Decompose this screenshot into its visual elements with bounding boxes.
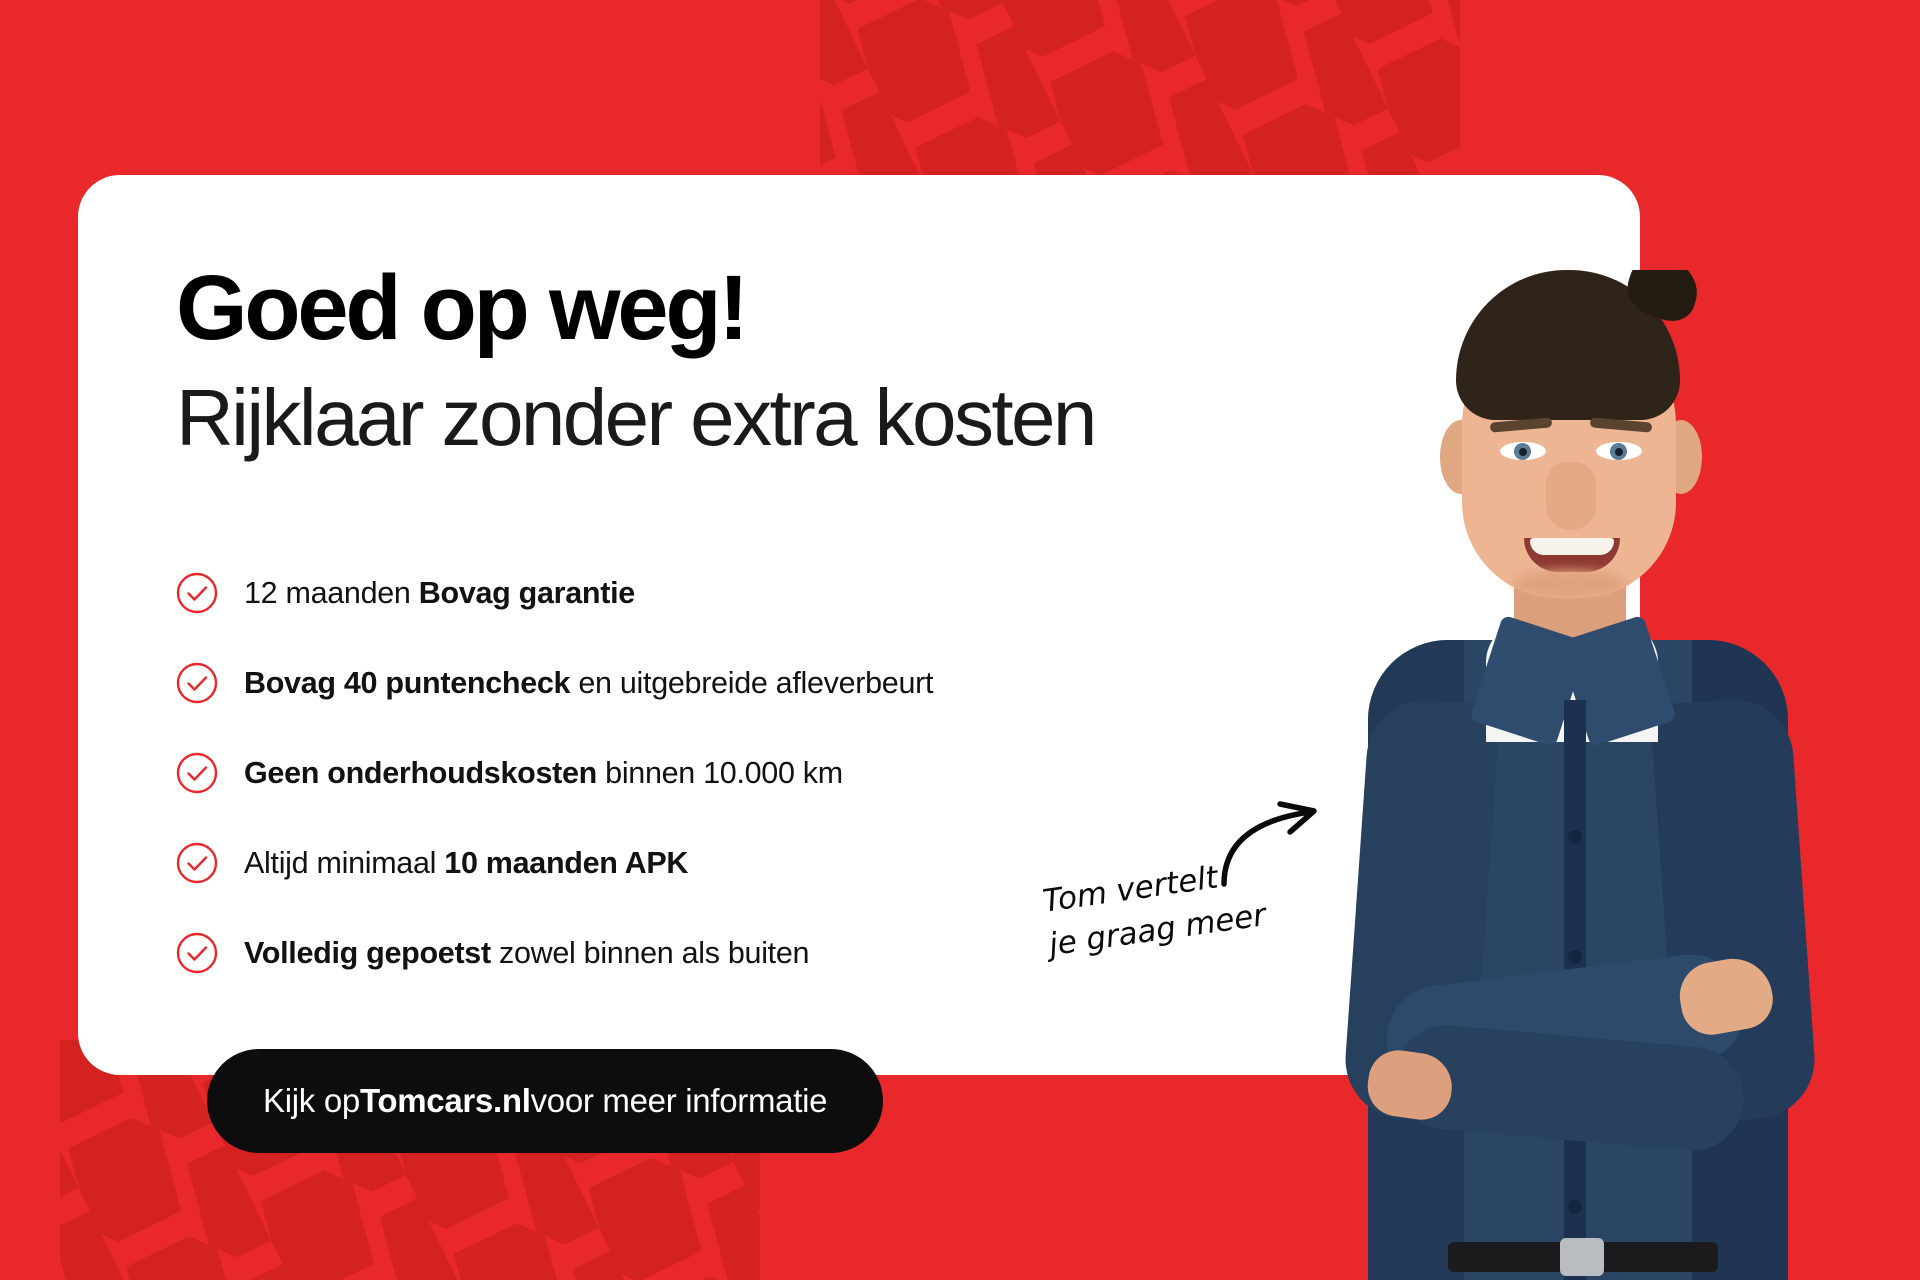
benefit-pre: 12 maanden (244, 576, 419, 610)
page-subtitle: Rijklaar zonder extra kosten (176, 378, 1095, 458)
promo-banner: Goed op weg! Rijklaar zonder extra koste… (0, 0, 1920, 1280)
shirt-button (1568, 830, 1582, 844)
benefit-strong: Volledig gepoetst (244, 936, 491, 970)
benefits-list: 12 maanden Bovag garantie Bovag 40 punte… (176, 548, 1196, 998)
benefit-post: binnen 10.000 km (597, 756, 843, 790)
shirt-button (1568, 950, 1582, 964)
list-item: 12 maanden Bovag garantie (176, 548, 1196, 638)
shirt-button (1568, 1200, 1582, 1214)
benefit-strong: Geen onderhoudskosten (244, 756, 597, 790)
list-item: Volledig gepoetst zowel binnen als buite… (176, 908, 1196, 998)
check-circle-icon (176, 572, 218, 614)
list-item-label: Bovag 40 puntencheck en uitgebreide afle… (244, 666, 933, 701)
list-item: Bovag 40 puntencheck en uitgebreide afle… (176, 638, 1196, 728)
list-item-label: Volledig gepoetst zowel binnen als buite… (244, 936, 809, 971)
cta-pre: Kijk op (263, 1082, 360, 1120)
page-title: Goed op weg! (176, 264, 746, 352)
benefit-strong: 10 maanden APK (444, 846, 688, 880)
avatar (1328, 270, 1828, 1280)
list-item-label: Altijd minimaal 10 maanden APK (244, 846, 688, 881)
belt-buckle (1560, 1238, 1604, 1276)
benefit-strong: Bovag garantie (419, 576, 635, 610)
cta-post: voor meer informatie (531, 1082, 828, 1120)
check-circle-icon (176, 932, 218, 974)
list-item: Geen onderhoudskosten binnen 10.000 km (176, 728, 1196, 818)
pupil-left (1519, 448, 1527, 456)
check-circle-icon (176, 662, 218, 704)
cta-brand: Tomcars.nl (360, 1082, 531, 1120)
nose (1546, 462, 1596, 530)
teeth (1530, 538, 1614, 555)
list-item-label: Geen onderhoudskosten binnen 10.000 km (244, 756, 843, 791)
check-circle-icon (176, 842, 218, 884)
benefit-post: zowel binnen als buiten (491, 936, 809, 970)
benefit-strong: Bovag 40 puntencheck (244, 666, 570, 700)
benefit-pre: Altijd minimaal (244, 846, 444, 880)
check-circle-icon (176, 752, 218, 794)
list-item-label: 12 maanden Bovag garantie (244, 576, 635, 611)
benefit-post: en uitgebreide afleverbeurt (570, 666, 933, 700)
chin-shadow (1514, 570, 1626, 598)
cta-button[interactable]: Kijk op Tomcars.nl voor meer informatie (207, 1049, 883, 1153)
pupil-right (1615, 448, 1623, 456)
